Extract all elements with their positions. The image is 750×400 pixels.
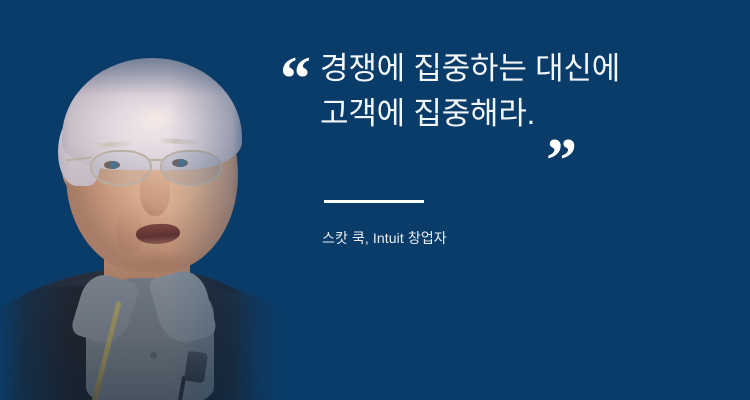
quote-text: 경쟁에 집중하는 대신에 고객에 집중해라.: [276, 46, 728, 136]
portrait-fade-mask: [0, 0, 290, 400]
attribution-text: 스캇 쿡, Intuit 창업자: [322, 228, 447, 248]
open-quote-icon: “: [280, 48, 311, 110]
portrait-photo: [0, 0, 290, 400]
quote-block: “ 경쟁에 집중하는 대신에 고객에 집중해라. ” 스캇 쿡, Intuit …: [276, 46, 728, 136]
close-quote-icon: ”: [546, 130, 577, 192]
divider-rule: [324, 200, 424, 203]
quote-card: “ 경쟁에 집중하는 대신에 고객에 집중해라. ” 스캇 쿡, Intuit …: [0, 0, 750, 400]
